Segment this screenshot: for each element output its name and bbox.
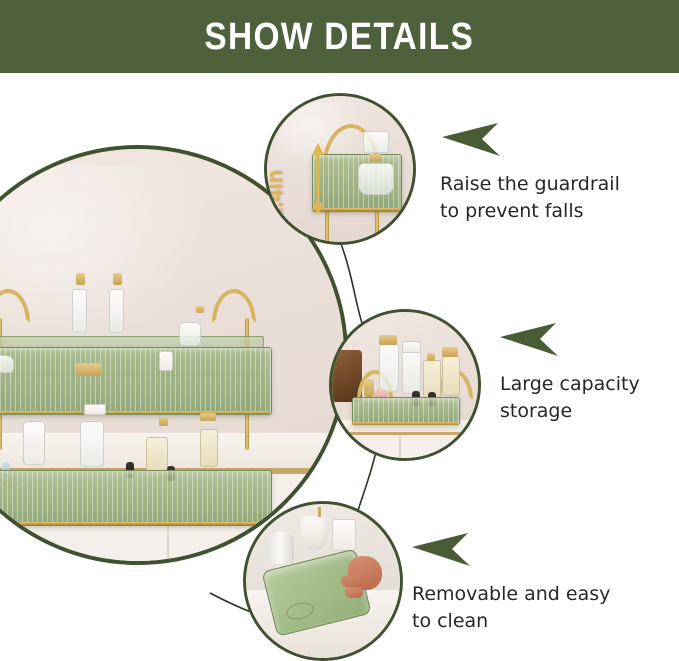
ribbed-vase <box>301 516 327 550</box>
perfume-bottle-round <box>179 322 201 346</box>
callout-cleaning-text: Removable and easy to clean <box>412 581 662 635</box>
tall-clear-bottle <box>80 421 104 467</box>
bottle-cap <box>442 347 458 357</box>
bottle-cap <box>200 413 216 421</box>
detail-circle-guardrail: 2.4in <box>264 93 416 245</box>
callout-capacity-text: Large capacity storage <box>500 371 679 425</box>
perfume-bottle-tall-2 <box>109 289 124 333</box>
bottle-cap <box>402 341 421 353</box>
perfume-bottle <box>358 163 394 195</box>
toner-bottle <box>23 421 45 465</box>
bottle-cap <box>84 404 106 415</box>
detail-circle-capacity <box>329 309 481 461</box>
dimension-double-arrow-icon <box>310 143 326 215</box>
perfume-cap <box>369 154 381 162</box>
countertop <box>0 433 344 470</box>
perfume-bottle-tall-1 <box>72 289 87 333</box>
callout-guardrail-text: Raise the guardrail to prevent falls <box>440 171 670 225</box>
tray-rim <box>352 422 457 425</box>
round-gold-jar <box>76 363 102 376</box>
toner-bottle-tall <box>379 344 399 392</box>
soap-bottle <box>332 519 356 551</box>
callout-cleaning: Removable and easy to clean <box>412 533 662 635</box>
cabinet-seam <box>399 435 401 458</box>
dimension-annotation: 2.4in <box>276 137 349 225</box>
gold-cap-bottle <box>442 356 460 396</box>
vase-stem <box>318 507 321 517</box>
faucet <box>268 532 294 564</box>
clear-handle-holder <box>0 355 14 373</box>
left-arrow-icon <box>412 533 472 567</box>
dimension-label: 2.4in <box>264 170 288 220</box>
white-tube <box>159 351 173 371</box>
left-arrow-icon <box>442 123 502 157</box>
header-banner: SHOW DETAILS <box>0 0 679 73</box>
detail-collage: 2.4in <box>0 73 679 660</box>
bottom-tier-tray <box>0 470 272 526</box>
callout-capacity: Large capacity storage <box>500 323 679 425</box>
pump-cap <box>427 353 435 361</box>
detail-circle-cleaning <box>243 501 403 661</box>
callout-guardrail: Raise the guardrail to prevent falls <box>440 123 670 225</box>
bottle-cap <box>379 335 397 345</box>
serum-bottle <box>200 429 218 467</box>
bottle-cap <box>113 273 122 285</box>
cream-pump-bottle <box>146 437 168 473</box>
bottom-tier-rim <box>0 522 270 525</box>
boxed-perfume <box>363 131 389 153</box>
finger-2 <box>345 587 363 598</box>
pump-cap <box>159 417 168 426</box>
capacity-tray <box>352 397 459 425</box>
left-arrow-icon <box>500 323 560 357</box>
gold-lipstick <box>364 379 374 397</box>
page-title: SHOW DETAILS <box>205 18 475 56</box>
finger-1 <box>341 575 363 587</box>
bottle-cap <box>196 306 204 313</box>
top-tier-rim <box>0 411 270 414</box>
clear-spray-bottle <box>402 350 421 394</box>
top-tier-tray <box>0 347 272 415</box>
vanity-cabinet <box>332 435 478 458</box>
bottle-cap <box>76 273 85 285</box>
